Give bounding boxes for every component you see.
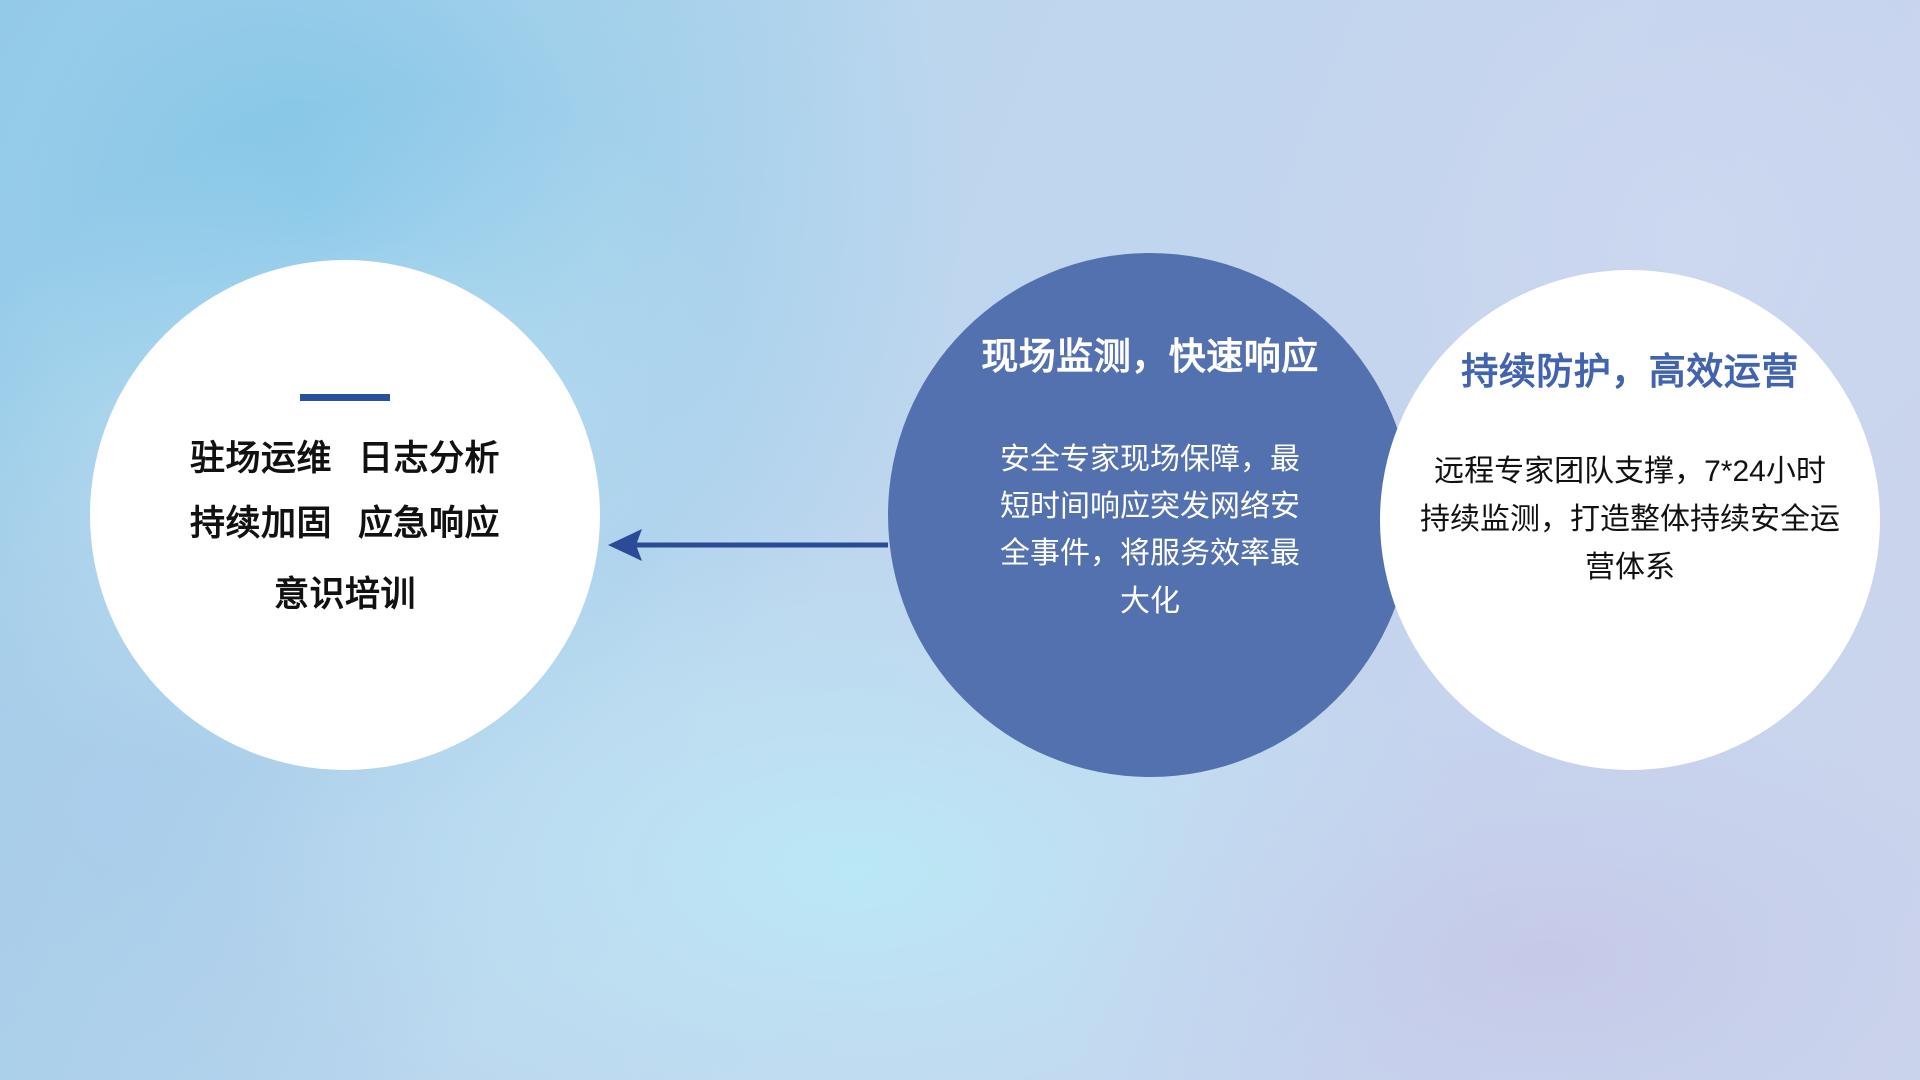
left-keyword-row-3: 意识培训 xyxy=(274,577,416,612)
left-keyword-2a: 持续加固 xyxy=(190,504,332,543)
arrow-left-connector xyxy=(590,515,890,575)
left-circle-content: 驻场运维日志分析 持续加固应急响应 意识培训 xyxy=(90,260,600,770)
middle-circle-content: 现场监测，快速响应 安全专家现场保障，最短时间响应突发网络安全事件，将服务效率最… xyxy=(888,253,1412,777)
arrow-left-icon xyxy=(590,515,890,575)
left-keyword-2b: 应急响应 xyxy=(358,504,500,543)
left-divider-dash xyxy=(300,394,390,401)
left-keyword-row-2: 持续加固应急响应 xyxy=(190,506,500,541)
right-circle-content: 持续防护，高效运营 远程专家团队支撑，7*24小时持续监测，打造整体持续安全运营… xyxy=(1380,270,1880,770)
left-keyword-1a: 驻场运维 xyxy=(190,439,332,478)
left-keyword-1b: 日志分析 xyxy=(358,439,500,478)
right-circle-body: 远程专家团队支撑，7*24小时持续监测，打造整体持续安全运营体系 xyxy=(1420,448,1840,592)
left-keyword-row-1: 驻场运维日志分析 xyxy=(190,441,500,476)
right-circle-title: 持续防护，高效运营 xyxy=(1461,352,1799,393)
slide-canvas: 驻场运维日志分析 持续加固应急响应 意识培训 现场监测，快速响应 安全专家现场保… xyxy=(0,0,1920,1080)
middle-circle-title: 现场监测，快速响应 xyxy=(981,337,1319,378)
middle-circle-body: 安全专家现场保障，最短时间响应突发网络安全事件，将服务效率最大化 xyxy=(995,436,1305,626)
